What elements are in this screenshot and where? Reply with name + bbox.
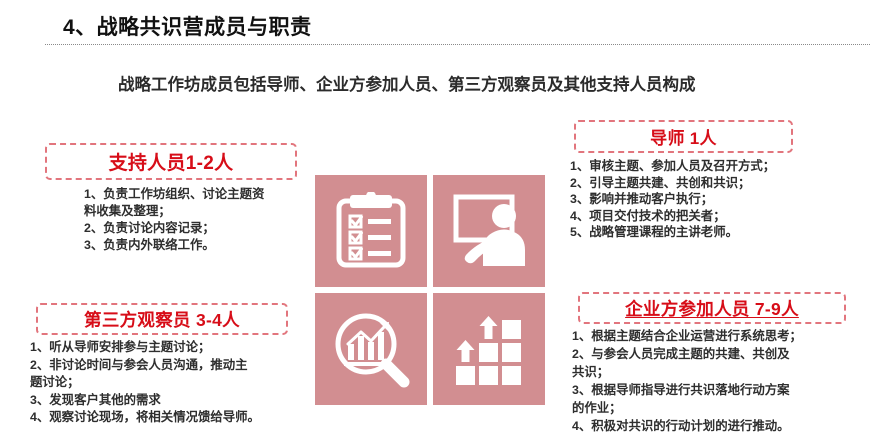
panel-body-support: 1、负责工作坊组织、讨论主题资 料收集及整理； 2、负责讨论内容记录； 3、负责…	[84, 186, 299, 254]
page-title: 4、战略共识营成员与职责	[63, 11, 312, 41]
icon-tile-growth	[433, 293, 545, 405]
central-icon-grid	[315, 175, 545, 405]
icon-tile-analysis	[315, 293, 427, 405]
slide-canvas: 4、战略共识营成员与职责 战略工作坊成员包括导师、企业方参加人员、第三方观察员及…	[0, 0, 895, 438]
clipboard-checklist-icon	[334, 192, 408, 270]
magnifier-bar-chart-icon	[330, 310, 412, 388]
title-divider	[45, 44, 870, 45]
icon-tile-clipboard	[315, 175, 427, 287]
panel-heading-support: 支持人员1-2人	[45, 143, 297, 180]
panel-body-observer: 1、听从导师安排参与主题讨论； 2、非讨论时间与参会人员沟通，推动主 题讨论； …	[30, 339, 312, 427]
icon-tile-presenter	[433, 175, 545, 287]
panel-heading-observer: 第三方观察员 3-4人	[36, 303, 288, 335]
panel-heading-mentor: 导师 1人	[574, 120, 793, 153]
panel-body-mentor: 1、审核主题、参加人员及召开方式； 2、引导主题共建、共创和共识； 3、影响并推…	[570, 158, 870, 241]
panel-heading-enterprise: 企业方参加人员 7-9人	[578, 292, 846, 324]
ascending-blocks-arrows-icon	[448, 310, 530, 388]
panel-heading-observer-label: 第三方观察员 3-4人	[84, 307, 240, 332]
presenter-whiteboard-icon	[447, 192, 531, 270]
panel-heading-support-label: 支持人员1-2人	[109, 148, 234, 175]
slide-subtitle: 战略工作坊成员包括导师、企业方参加人员、第三方观察员及其他支持人员构成	[118, 71, 696, 95]
panel-body-enterprise: 1、根据主题结合企业运营进行系统思考； 2、与参会人员完成主题的共建、共创及 共…	[572, 327, 872, 435]
panel-heading-enterprise-label: 企业方参加人员 7-9人	[625, 296, 799, 321]
panel-heading-mentor-label: 导师 1人	[650, 124, 717, 149]
